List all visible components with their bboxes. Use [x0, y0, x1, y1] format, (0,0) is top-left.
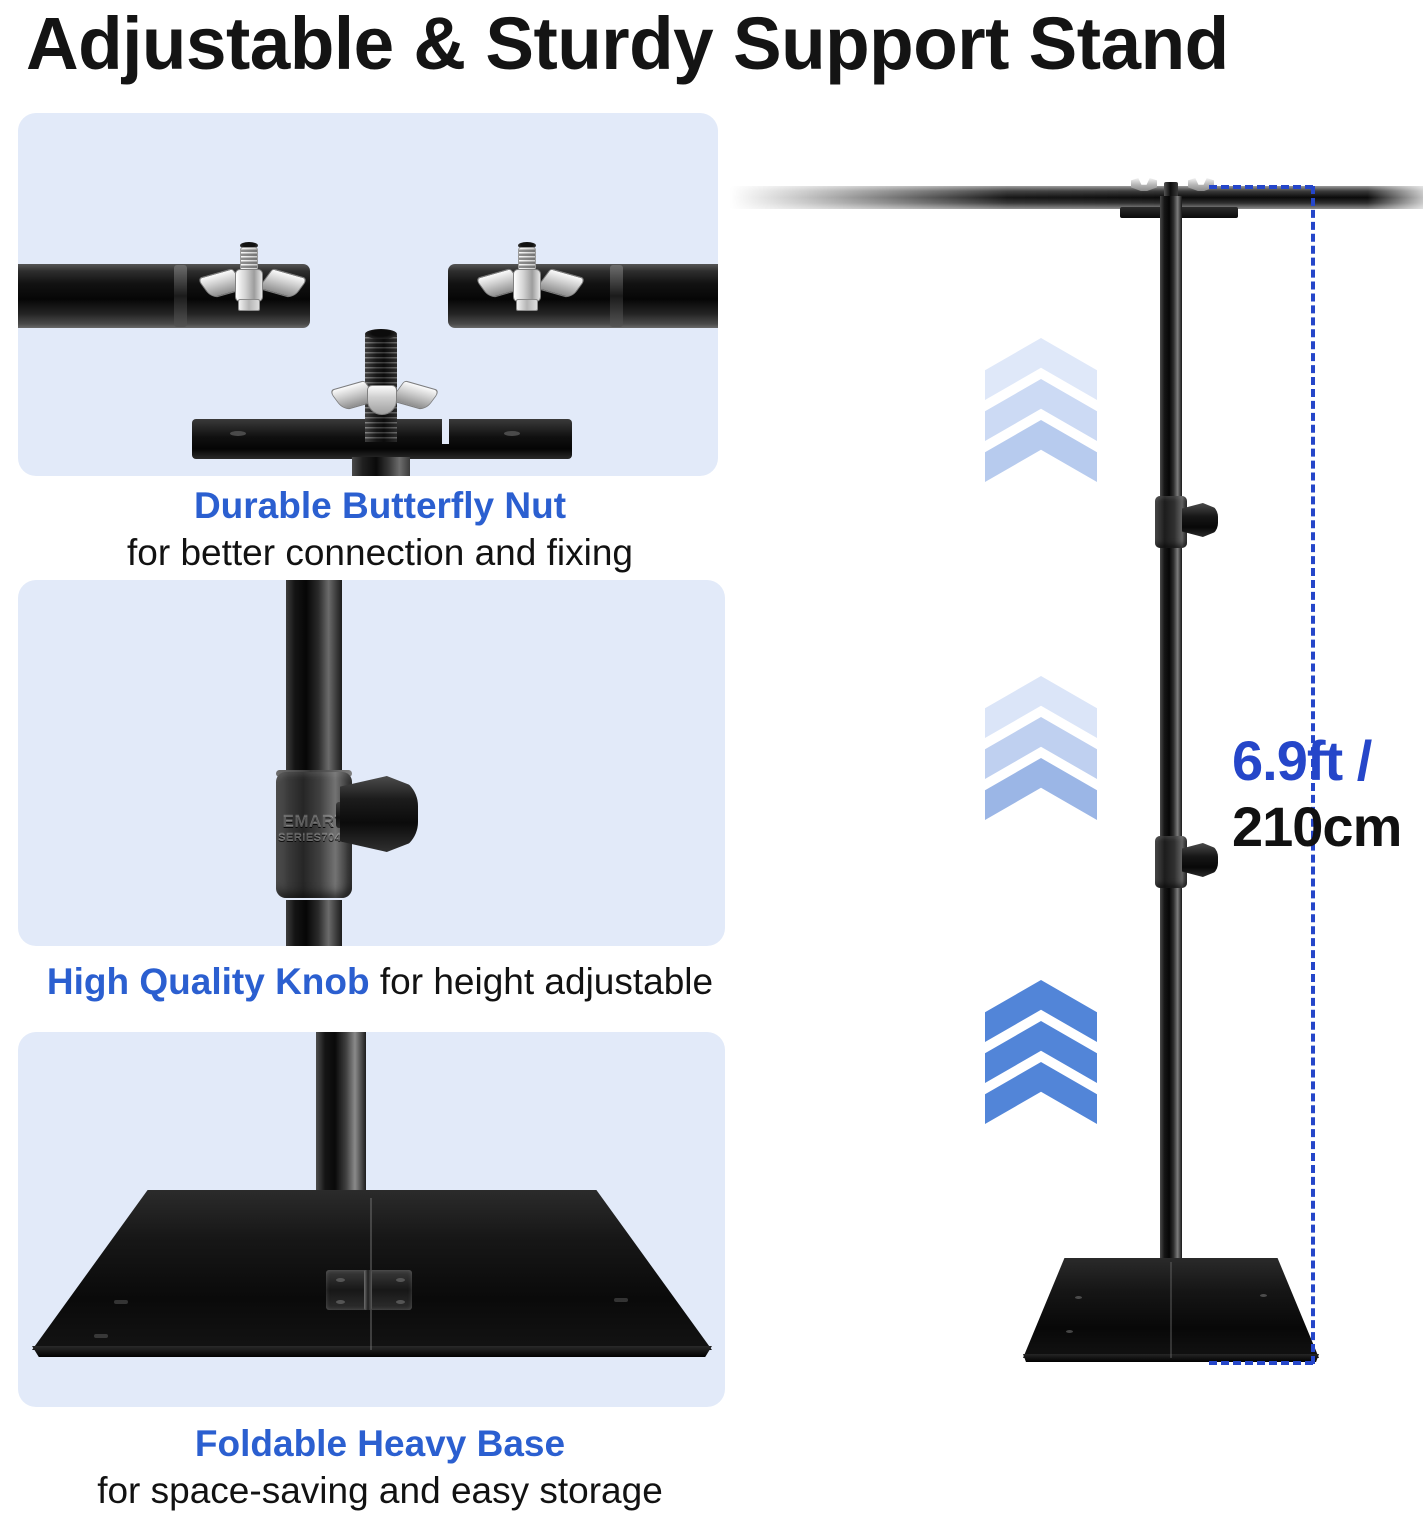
height-chevron-group-middle — [985, 676, 1097, 799]
height-measurement-label: 6.9ft / 210cm — [1232, 728, 1423, 860]
base-plate-edge-icon — [32, 1346, 712, 1357]
pole-segment-middle-icon — [286, 900, 342, 946]
height-chevron-group-bottom — [985, 980, 1097, 1103]
nut-collar-icon — [238, 299, 260, 311]
stand-base-seam-icon — [1170, 1262, 1172, 1358]
hinge-screw-icon — [336, 1278, 345, 1282]
bracket-rivet-left-icon — [230, 431, 246, 436]
caption-highlight-text: Durable Butterfly Nut — [194, 485, 566, 526]
feature-image-butterfly-nut — [18, 113, 718, 476]
stand-base-screw-icon — [1260, 1294, 1267, 1297]
caption-sub-text: for space-saving and easy storage — [97, 1470, 663, 1511]
nut-collar-icon — [516, 299, 538, 311]
stand-base-screw-icon — [1075, 1296, 1082, 1299]
features-column: Durable Butterfly Nut for better connect… — [0, 0, 790, 1500]
hinge-screw-icon — [336, 1300, 345, 1304]
measurement-metric: 210cm — [1232, 794, 1423, 860]
hinge-screw-icon — [396, 1300, 405, 1304]
vertical-post-icon — [352, 457, 410, 476]
knob-illustration: EMART SERIES704N EMART SERIES704N — [18, 580, 725, 946]
caption-highlight-line: Foldable Heavy Base — [0, 1420, 760, 1467]
feature-image-knob: EMART SERIES704N EMART SERIES704N — [18, 580, 725, 946]
pole-segment-top-icon — [286, 580, 342, 776]
feature-caption-knob: High Quality Knob for height adjustable — [0, 958, 760, 1005]
caption-sub-line: for space-saving and easy storage — [0, 1467, 760, 1514]
caption-sub-text: for better connection and fixing — [127, 532, 633, 573]
height-chevron-group-top — [985, 338, 1097, 461]
caption-highlight-line: Durable Butterfly Nut — [0, 482, 760, 529]
bracket-notch-icon — [442, 419, 449, 444]
plate-surface-mark-icon — [614, 1298, 628, 1302]
nut-hub-icon — [513, 269, 541, 302]
plate-surface-mark-icon — [94, 1334, 108, 1338]
caption-single-line: High Quality Knob for height adjustable — [0, 958, 760, 1005]
measurement-imperial: 6.9ft / — [1232, 728, 1423, 794]
measure-cap-top — [1209, 185, 1313, 189]
crossbar-tube-left-icon — [18, 264, 310, 328]
adjust-knob-upper-icon — [340, 776, 418, 852]
bracket-rivet-right-icon — [504, 431, 520, 436]
feature-caption-butterfly-nut: Durable Butterfly Nut for better connect… — [0, 482, 760, 576]
hinge-pin-icon — [364, 1270, 372, 1310]
hinge-screw-icon — [396, 1278, 405, 1282]
feature-image-base — [18, 1032, 725, 1407]
tube-end-cap-right-icon — [610, 265, 623, 327]
caption-highlight-text: High Quality Knob — [47, 961, 370, 1002]
base-illustration — [18, 1032, 725, 1407]
nut-hub-icon — [235, 269, 263, 302]
stand-crossbar-icon — [730, 186, 1423, 209]
caption-sub-line: for better connection and fixing — [0, 529, 760, 576]
stand-knob-upper-icon — [1182, 503, 1218, 537]
wing-right-icon — [390, 380, 441, 411]
threaded-stud-icon — [240, 247, 258, 271]
stand-knob-lower-icon — [1182, 843, 1218, 877]
measure-cap-bottom — [1209, 1361, 1313, 1365]
caption-highlight-text: Foldable Heavy Base — [195, 1423, 565, 1464]
bolt-top-icon — [365, 329, 397, 339]
tube-end-cap-left-icon — [174, 265, 187, 327]
plate-surface-mark-icon — [114, 1300, 128, 1304]
stand-base-screw-icon — [1066, 1330, 1073, 1333]
butterfly-nut-illustration — [18, 113, 718, 476]
caption-sub-text: for height adjustable — [370, 961, 714, 1002]
threaded-stud-icon — [518, 247, 536, 271]
stand-upright-pole-icon — [1160, 196, 1182, 1282]
nut-hub-icon — [367, 385, 397, 415]
